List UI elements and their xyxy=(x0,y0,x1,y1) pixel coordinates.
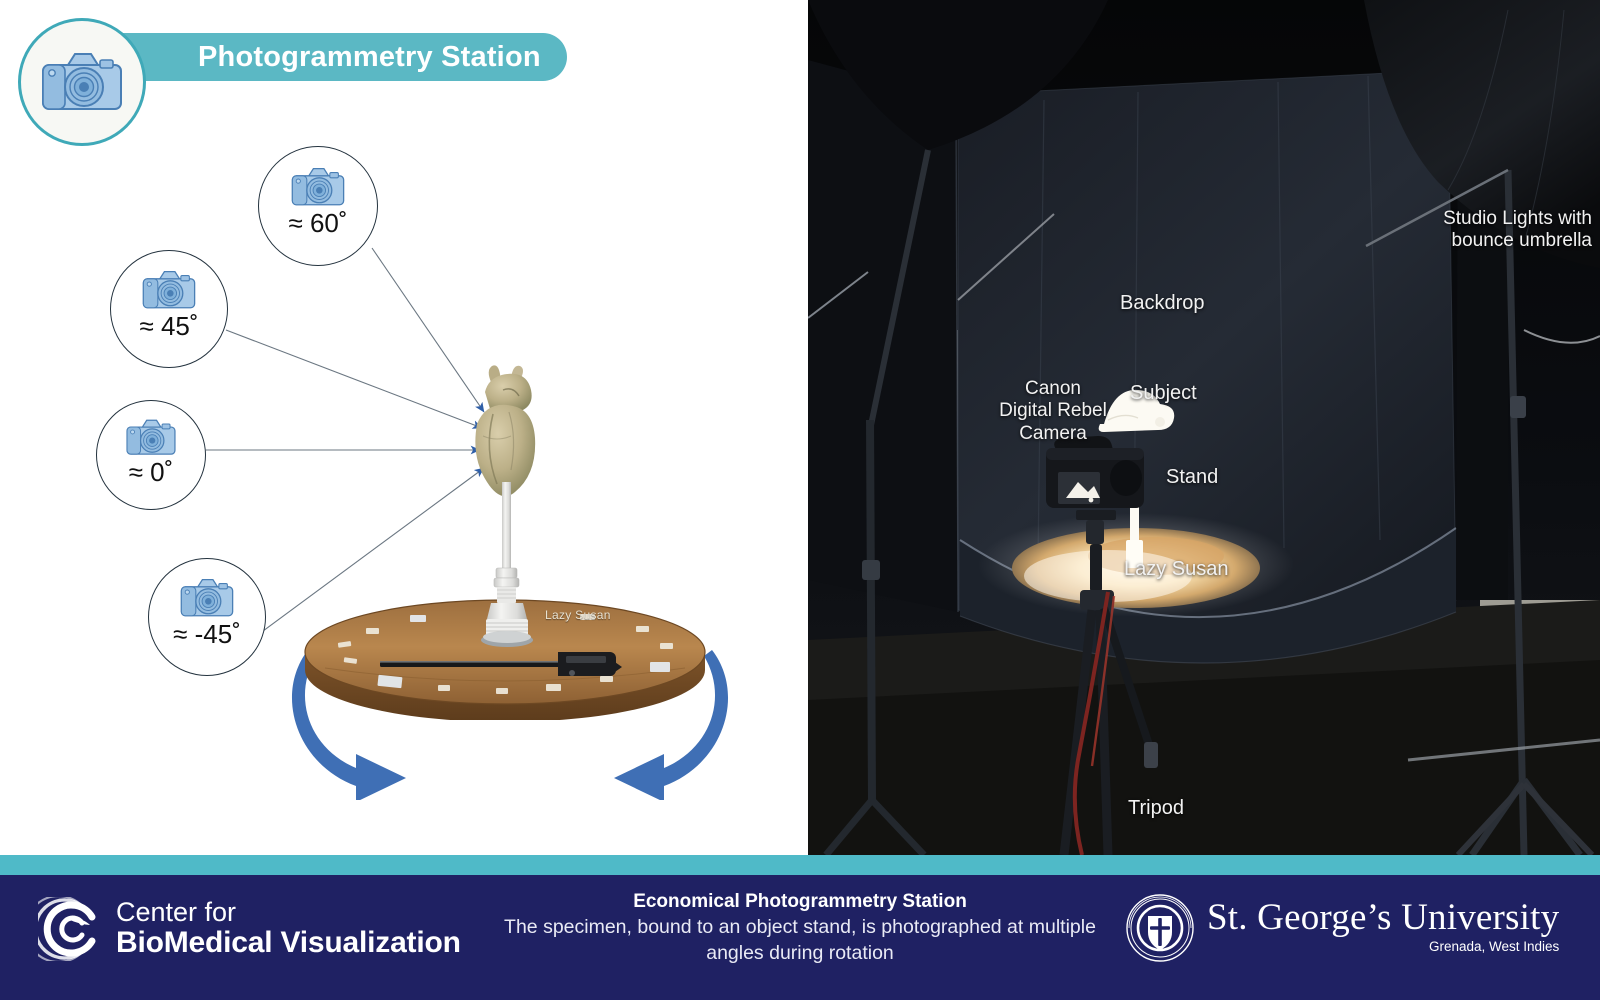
label-lazy-susan: Lazy Susan xyxy=(1124,558,1229,582)
camera-icon xyxy=(177,575,237,621)
cbv-branding: Center for BioMedical Visualization xyxy=(38,897,461,961)
footer-caption: Economical Photogrammetry Station The sp… xyxy=(490,891,1110,966)
poster-canvas: Photogrammetry Station ≈ 60˚ xyxy=(0,0,1600,1000)
label-studio-lights: Studio Lights with bounce umbrella xyxy=(1443,208,1592,253)
sgu-name: St. George’s University xyxy=(1207,899,1559,936)
camera-node-minus45[interactable]: ≈ -45˚ xyxy=(148,558,266,676)
camera-icon xyxy=(123,416,179,459)
camera-node-0[interactable]: ≈ 0˚ xyxy=(96,400,206,510)
camera-node-60[interactable]: ≈ 60˚ xyxy=(258,146,378,266)
sgu-location: Grenada, West Indies xyxy=(1207,940,1559,954)
cbv-line-2: BioMedical Visualization xyxy=(116,927,461,959)
camera-angle-label: ≈ 60˚ xyxy=(288,208,347,239)
camera-angle-label: ≈ 0˚ xyxy=(129,457,174,488)
label-canon-camera: Canon Digital Rebel Camera xyxy=(988,378,1118,445)
label-subject: Subject xyxy=(1130,382,1197,406)
sgu-branding: St. George’s University Grenada, West In… xyxy=(1125,893,1559,963)
page-title: Photogrammetry Station xyxy=(88,33,567,81)
sgu-seal-icon xyxy=(1125,893,1195,963)
photo-scene xyxy=(808,0,1600,855)
camera-angle-label: ≈ -45˚ xyxy=(173,619,241,650)
studio-photograph: Studio Lights with bounce umbrella Backd… xyxy=(808,0,1600,855)
footer-bar: Center for BioMedical Visualization Econ… xyxy=(0,875,1600,1000)
camera-icon xyxy=(288,164,348,210)
label-tripod: Tripod xyxy=(1128,797,1184,821)
caption-title: Economical Photogrammetry Station xyxy=(490,891,1110,913)
camera-icon xyxy=(139,267,199,313)
turntable-label: Lazy Susan xyxy=(545,608,611,622)
teal-divider xyxy=(0,855,1600,875)
label-stand: Stand xyxy=(1166,466,1218,490)
label-backdrop: Backdrop xyxy=(1120,292,1205,316)
cbv-spiral-logo-icon xyxy=(38,897,102,961)
camera-node-45[interactable]: ≈ 45˚ xyxy=(110,250,228,368)
camera-icon xyxy=(38,47,126,117)
diagram-panel: Photogrammetry Station ≈ 60˚ xyxy=(0,0,808,855)
camera-angle-label: ≈ 45˚ xyxy=(139,311,198,342)
caption-body: The specimen, bound to an object stand, … xyxy=(490,915,1110,966)
header-camera-badge xyxy=(18,18,146,146)
cbv-line-1: Center for xyxy=(116,898,461,927)
